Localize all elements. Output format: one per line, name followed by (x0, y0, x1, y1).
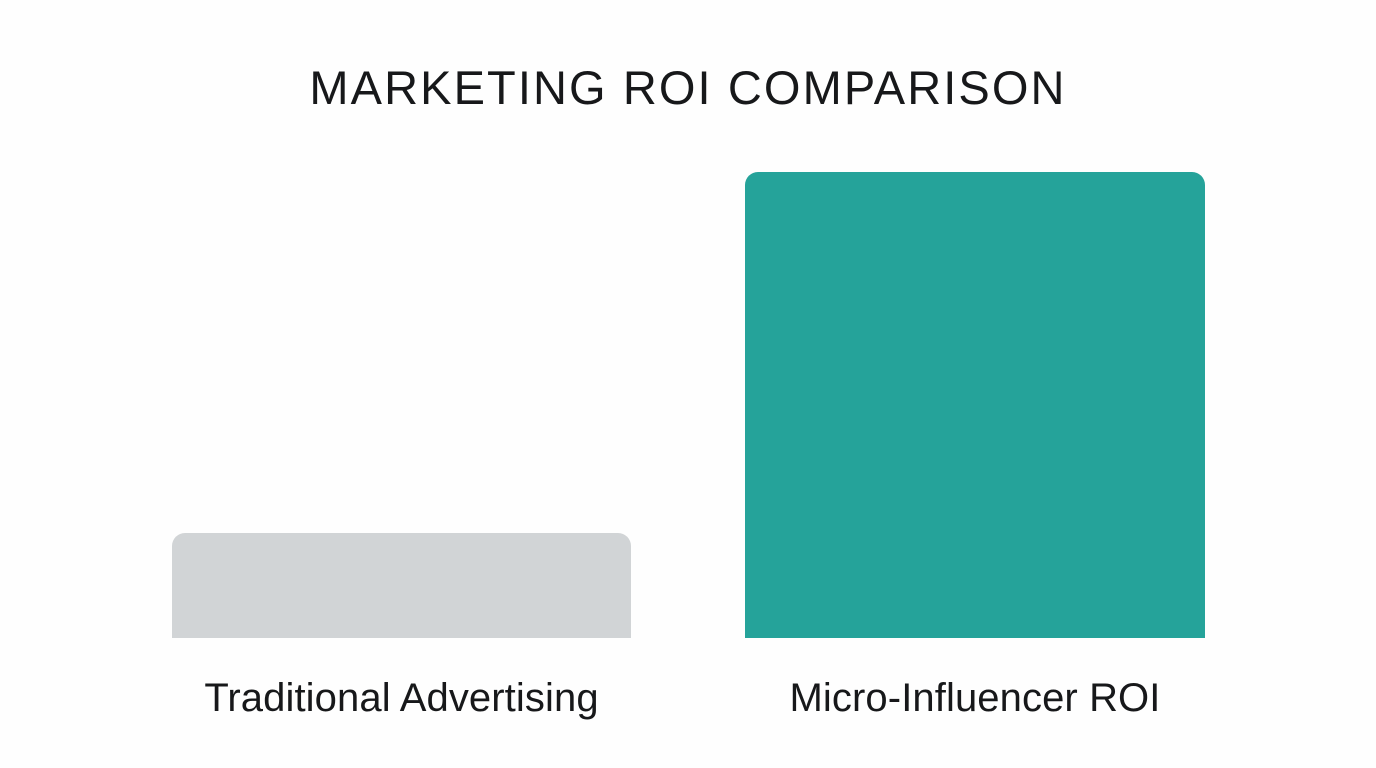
bar-micro-influencer-roi[interactable] (745, 172, 1205, 638)
slide-canvas: MARKETING ROI COMPARISON Traditional Adv… (0, 0, 1376, 768)
bar-label-traditional-advertising: Traditional Advertising (112, 678, 691, 718)
bar-traditional-advertising[interactable] (172, 533, 631, 638)
bar-label-micro-influencer-roi: Micro-Influencer ROI (685, 678, 1265, 718)
bar-chart-plot-area: Traditional Advertising Micro-Influencer… (0, 0, 1376, 768)
bar-group-micro-influencer-roi: Micro-Influencer ROI (745, 0, 1205, 768)
bar-group-traditional-advertising: Traditional Advertising (172, 0, 631, 768)
